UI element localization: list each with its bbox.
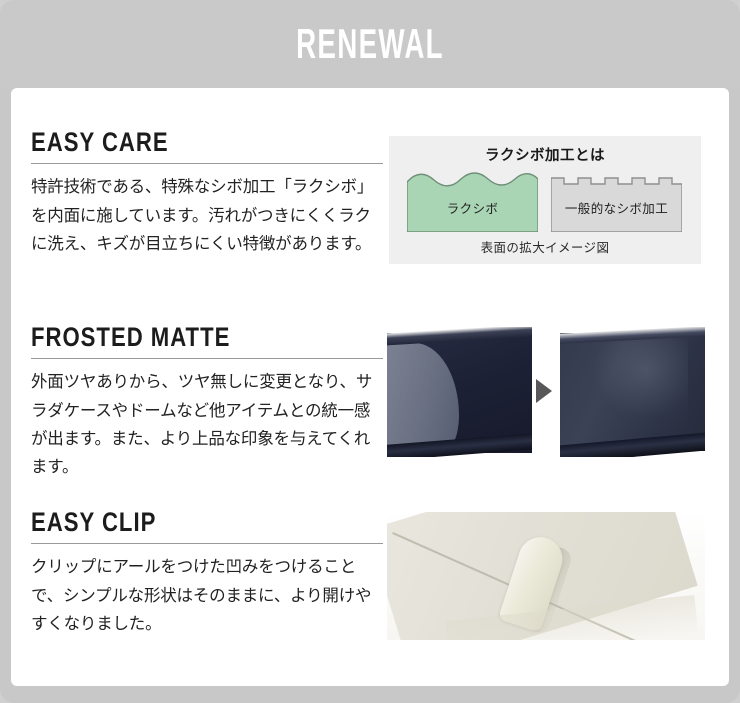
diagram-shape-normal: 一般的なシボ加工 — [551, 170, 682, 232]
arrow-right-icon — [536, 379, 552, 403]
diagram-shape-label: 一般的なシボ加工 — [551, 198, 682, 217]
rakushibo-diagram: ラクシボ加工とは ラクシボ 一般的なシボ加工 表面の拡大イメージ図 — [389, 136, 701, 264]
section-body: 外面ツヤありから、ツヤ無しに変更となり、サラダケースやドームなど他アイテムとの統… — [31, 368, 383, 482]
content-card: EASY CARE 特許技術である、特殊なシボ加工「ラクシボ」を内面に施していま… — [11, 88, 729, 686]
diagram-caption: 表面の拡大イメージ図 — [389, 237, 701, 256]
section-heading: FROSTED MATTE — [31, 323, 320, 351]
section-media-column: ラクシボ加工とは ラクシボ 一般的なシボ加工 表面の拡大イメージ図 — [383, 128, 729, 293]
section-easy-clip: EASY CLIP クリップにアールをつけた凹みをつけることで、シンプルな形状は… — [11, 508, 729, 673]
heading-divider — [31, 358, 383, 359]
header-band: RENEWAL — [0, 0, 740, 88]
glossy-lid-photo — [387, 327, 532, 457]
section-heading: EASY CARE — [31, 128, 320, 156]
section-text-column: EASY CARE 特許技術である、特殊なシボ加工「ラクシボ」を内面に施していま… — [11, 128, 383, 258]
section-media-column — [383, 323, 729, 488]
renewal-infographic: RENEWAL EASY CARE 特許技術である、特殊なシボ加工「ラクシボ」を… — [0, 0, 740, 703]
diagram-shape-rakushibo: ラクシボ — [407, 170, 538, 232]
section-text-column: EASY CLIP クリップにアールをつけた凹みをつけることで、シンプルな形状は… — [11, 508, 383, 638]
section-heading: EASY CLIP — [31, 508, 320, 536]
section-easy-care: EASY CARE 特許技術である、特殊なシボ加工「ラクシボ」を内面に施していま… — [11, 128, 729, 293]
clip-detail-photo — [387, 512, 705, 640]
section-frosted-matte: FROSTED MATTE 外面ツヤありから、ツヤ無しに変更となり、サラダケース… — [11, 323, 729, 488]
section-body: クリップにアールをつけた凹みをつけることで、シンプルな形状はそのままに、より開け… — [31, 553, 383, 638]
before-after-photos — [387, 327, 705, 461]
heading-divider — [31, 163, 383, 164]
section-text-column: FROSTED MATTE 外面ツヤありから、ツヤ無しに変更となり、サラダケース… — [11, 323, 383, 482]
matte-lid-photo — [560, 327, 705, 457]
diagram-shape-label: ラクシボ — [407, 198, 538, 217]
diagram-title: ラクシボ加工とは — [389, 144, 701, 165]
section-body: 特許技術である、特殊なシボ加工「ラクシボ」を内面に施しています。汚れがつきにくく… — [31, 173, 383, 258]
heading-divider — [31, 543, 383, 544]
page-title: RENEWAL — [296, 23, 444, 65]
section-media-column — [383, 508, 729, 673]
